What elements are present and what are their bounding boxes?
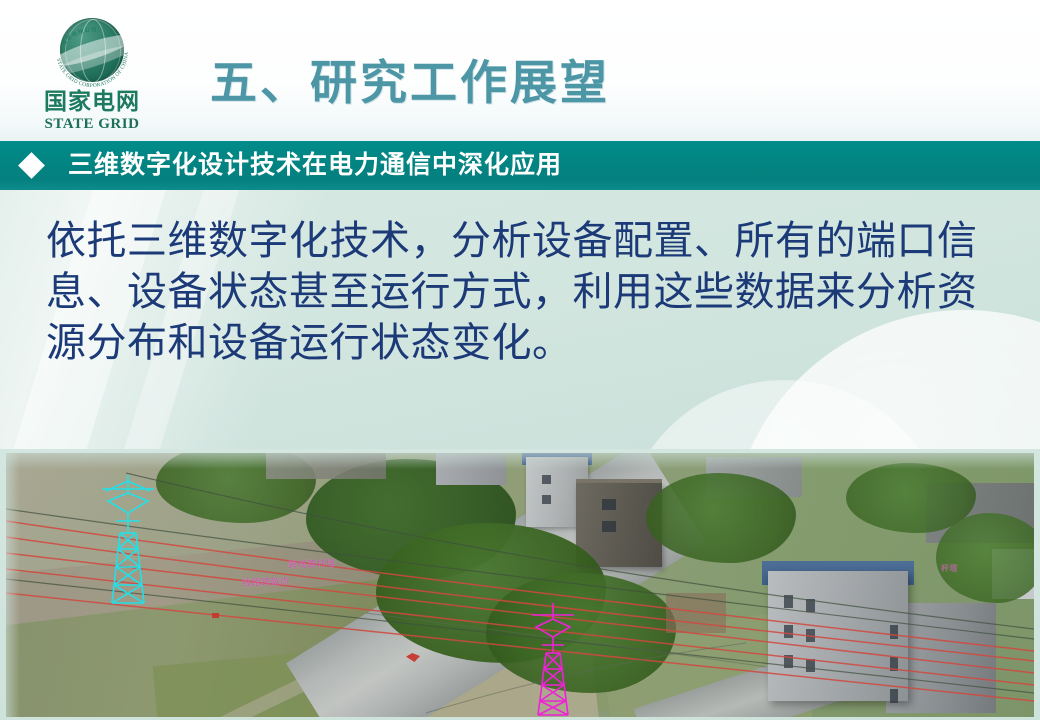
body-paragraph: 依托三维数字化技术，分析设备配置、所有的端口信息、设备状态甚至运行方式，利用这些… [46,216,1006,369]
page-title: 五、研究工作展望 [210,44,610,113]
section-banner: 三维数字化设计技术在电力通信中深化应用 [0,141,1040,190]
state-grid-logo: 国家电网公司 STATE GRID CORPORATION OF CHINA 国… [28,16,156,128]
transmission-tower-cyan [98,471,158,611]
transmission-tower-magenta [526,601,580,717]
presentation-slide: 国家电网公司 STATE GRID CORPORATION OF CHINA 国… [0,0,1040,720]
logo-emblem: 国家电网公司 STATE GRID CORPORATION OF CHINA [50,16,134,90]
photo-edge-fade [6,453,20,717]
logo-english-name: STATE GRID [28,116,156,133]
map-marker [212,613,219,618]
slide-content: 依托三维数字化技术，分析设备配置、所有的端口信息、设备状态甚至运行方式，利用这些… [0,190,1040,452]
svg-text:STATE GRID CORPORATION OF CHIN: STATE GRID CORPORATION OF CHINA [55,52,130,89]
photo-edge-fade [6,453,1034,469]
slide-header: 国家电网公司 STATE GRID CORPORATION OF CHINA 国… [0,0,1040,141]
aerial-3d-photo: 跨线路杆塔 线路跨越点 杆塔 [6,453,1034,717]
logo-chinese-name: 国家电网 [28,90,156,115]
section-banner-label: 三维数字化设计技术在电力通信中深化应用 [68,148,562,182]
photo-annotation: 线路跨越点 [242,574,290,589]
svg-text:国家电网公司: 国家电网公司 [60,27,97,48]
photo-annotation: 杆塔 [941,563,958,574]
photo-annotation: 跨线路杆塔 [288,556,336,571]
powerline-overlay [6,453,1034,717]
logo-ring-text: 国家电网公司 STATE GRID CORPORATION OF CHINA [50,11,134,95]
photo-container: 跨线路杆塔 线路跨越点 杆塔 [0,449,1040,720]
diamond-bullet-icon [18,152,45,179]
